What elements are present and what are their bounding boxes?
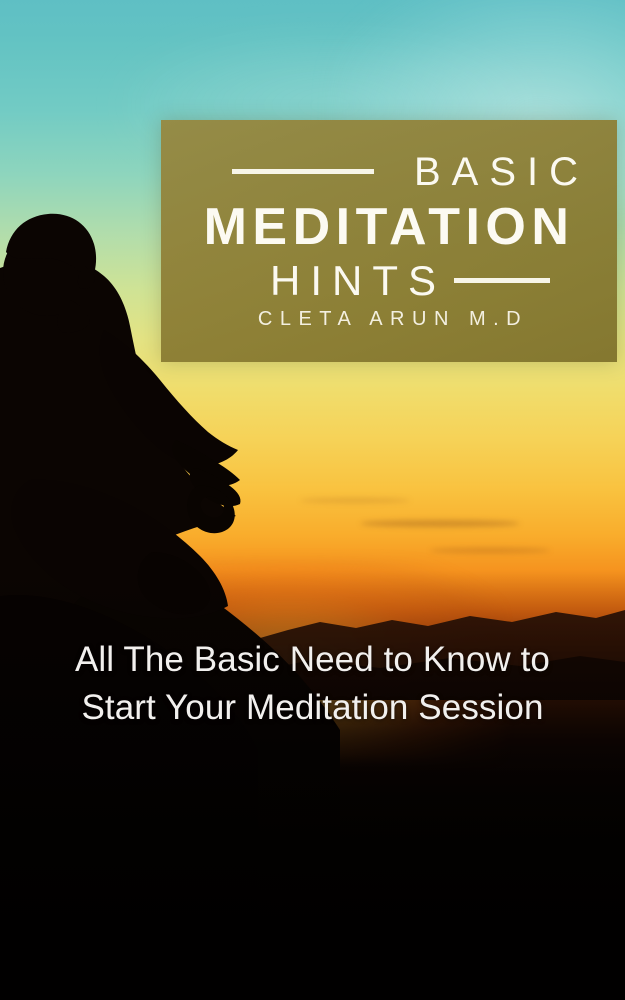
subtitle-line-2: Start Your Meditation Session (22, 684, 603, 732)
author-row: CLETA ARUN M.D (179, 309, 599, 330)
book-cover: BASIC MEDITATION HINTS CLETA ARUN M.D Al… (0, 0, 625, 1000)
title-line-hints-row: HINTS (179, 255, 599, 307)
subtitle-line-1: All The Basic Need to Know to (22, 636, 603, 684)
title-word-hints: HINTS (270, 260, 446, 302)
cover-subtitle: All The Basic Need to Know to Start Your… (0, 636, 625, 731)
title-block: BASIC MEDITATION HINTS CLETA ARUN M.D (161, 120, 617, 362)
horizontal-rule-right-icon (454, 278, 550, 283)
title-line-basic-row: BASIC (179, 149, 599, 195)
horizontal-rule-left-icon (232, 169, 374, 174)
title-word-meditation: MEDITATION (204, 198, 575, 256)
title-line-meditation-row: MEDITATION (179, 201, 599, 253)
title-word-basic: BASIC (414, 152, 591, 192)
author-name: CLETA ARUN M.D (258, 308, 528, 330)
